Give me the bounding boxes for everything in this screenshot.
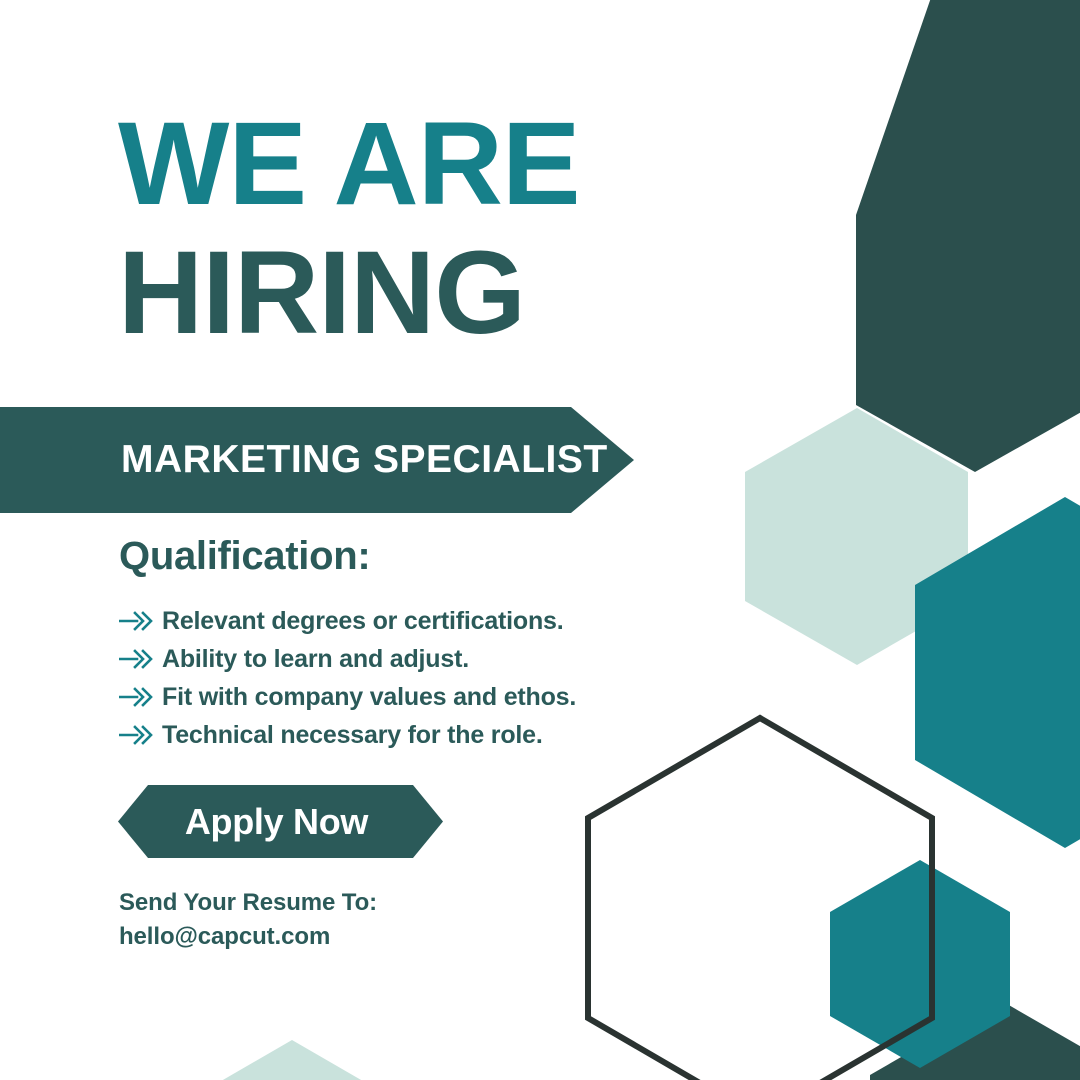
headline-line-we-are: WE ARE (118, 110, 580, 219)
double-chevron-arrow-icon (119, 648, 153, 670)
double-chevron-arrow-icon (119, 724, 153, 746)
contact-email[interactable]: hello@capcut.com (119, 920, 377, 954)
apply-now-button[interactable]: Apply Now (118, 785, 443, 858)
apply-now-button-label: Apply Now (185, 801, 376, 843)
job-title-banner: MARKETING SPECIALIST (0, 407, 634, 513)
hiring-poster: WE ARE HIRING MARKETING SPECIALIST Quali… (0, 0, 1080, 1080)
qualification-item-text: Fit with company values and ethos. (162, 683, 576, 712)
qualification-item-text: Ability to learn and adjust. (162, 645, 469, 674)
poster-content: WE ARE HIRING MARKETING SPECIALIST Quali… (0, 0, 1080, 1080)
list-item: Relevant degrees or certifications. (119, 602, 679, 640)
qualification-item-text: Technical necessary for the role. (162, 721, 543, 750)
list-item: Technical necessary for the role. (119, 716, 679, 754)
double-chevron-arrow-icon (119, 610, 153, 632)
double-chevron-arrow-icon (119, 686, 153, 708)
resume-prompt-text: Send Your Resume To: (119, 886, 377, 920)
contact-block: Send Your Resume To: hello@capcut.com (119, 886, 377, 954)
qualification-item-text: Relevant degrees or certifications. (162, 607, 563, 636)
headline-line-hiring: HIRING (118, 237, 580, 349)
list-item: Ability to learn and adjust. (119, 640, 679, 678)
qualification-list: Relevant degrees or certifications. Abil… (119, 602, 679, 754)
qualification-heading: Qualification: (119, 534, 370, 579)
job-title-label: MARKETING SPECIALIST (121, 438, 608, 482)
headline-block: WE ARE HIRING (118, 110, 580, 349)
list-item: Fit with company values and ethos. (119, 678, 679, 716)
